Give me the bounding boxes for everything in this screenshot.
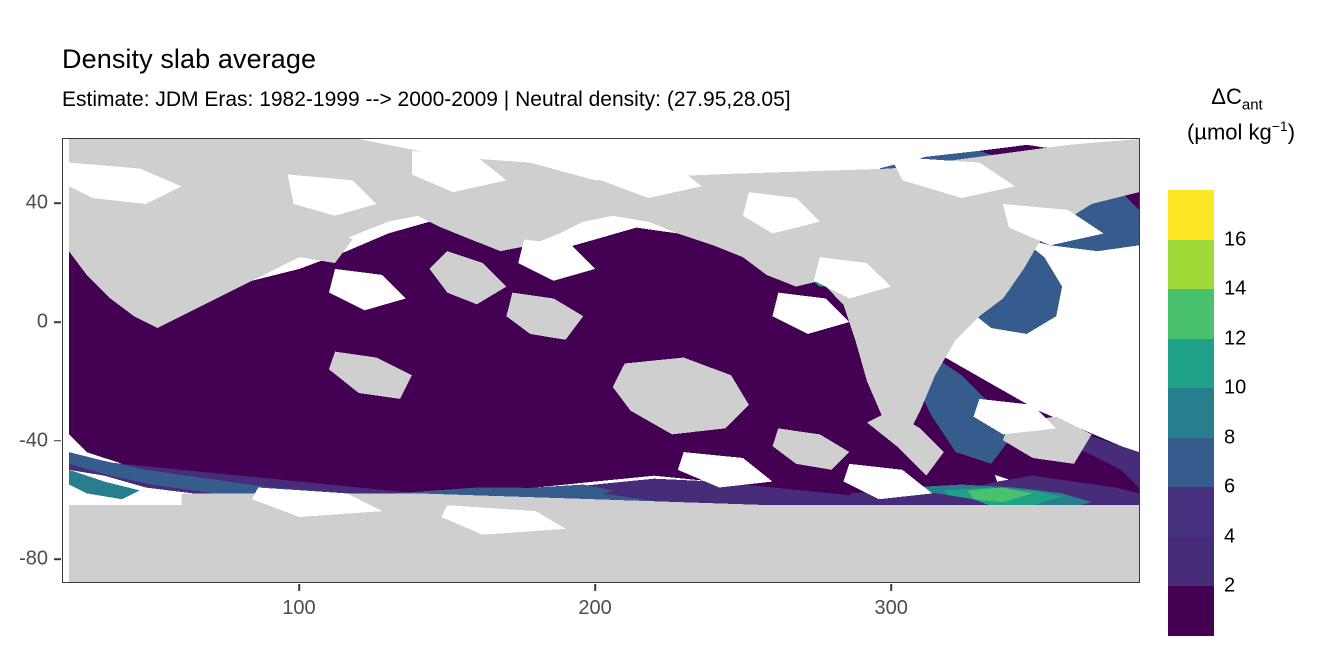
legend: ΔCant (µmol kg−1) 161412108642: [1152, 84, 1338, 644]
legend-colorbar[interactable]: [1168, 190, 1214, 636]
y-tick-mark: [54, 440, 61, 442]
legend-title: ΔCant: [1152, 84, 1322, 113]
legend-band-8-10[interactable]: [1168, 388, 1214, 438]
legend-units: (µmol kg−1): [1152, 118, 1330, 145]
legend-band-6-8[interactable]: [1168, 438, 1214, 488]
legend-tick-label: 6: [1224, 476, 1235, 499]
x-tick-label: 100: [282, 597, 315, 620]
legend-band-12-14[interactable]: [1168, 289, 1214, 339]
page-subtitle: Estimate: JDM Eras: 1982-1999 --> 2000-2…: [62, 88, 791, 112]
x-tick-label: 200: [578, 597, 611, 620]
legend-band-10-12[interactable]: [1168, 339, 1214, 389]
y-tick-label: 0: [0, 310, 48, 333]
y-tick-mark: [54, 558, 61, 560]
legend-units-open: (µmol kg: [1187, 119, 1272, 144]
legend-band-14-16[interactable]: [1168, 240, 1214, 290]
y-tick-mark: [54, 321, 61, 323]
legend-band-0-2[interactable]: [1168, 586, 1214, 636]
legend-band-2-4[interactable]: [1168, 537, 1214, 587]
y-tick-label: 40: [0, 192, 48, 215]
x-tick-mark: [594, 584, 596, 591]
map-panel: [62, 138, 1140, 583]
y-tick-label: -40: [0, 429, 48, 452]
y-tick-mark: [54, 202, 61, 204]
legend-title-main: ΔC: [1211, 84, 1242, 109]
legend-band-4-6[interactable]: [1168, 487, 1214, 537]
legend-tick-label: 4: [1224, 525, 1235, 548]
legend-tick-label: 8: [1224, 426, 1235, 449]
legend-band-16-18[interactable]: [1168, 190, 1214, 240]
map-svg: [63, 139, 1139, 582]
y-tick-label: -80: [0, 548, 48, 571]
x-tick-label: 300: [875, 597, 908, 620]
legend-tick-label: 2: [1224, 575, 1235, 598]
legend-title-subscript: ant: [1242, 96, 1263, 113]
legend-tick-label: 12: [1224, 327, 1246, 350]
legend-tick-label: 10: [1224, 377, 1246, 400]
legend-units-close: ): [1288, 119, 1295, 144]
figure-root: Density slab average Estimate: JDM Eras:…: [0, 0, 1344, 672]
x-tick-mark: [298, 584, 300, 591]
legend-tick-label: 16: [1224, 228, 1246, 251]
legend-tick-label: 14: [1224, 278, 1246, 301]
legend-units-superscript: −1: [1272, 118, 1288, 134]
page-title: Density slab average: [62, 44, 316, 75]
x-tick-mark: [890, 584, 892, 591]
